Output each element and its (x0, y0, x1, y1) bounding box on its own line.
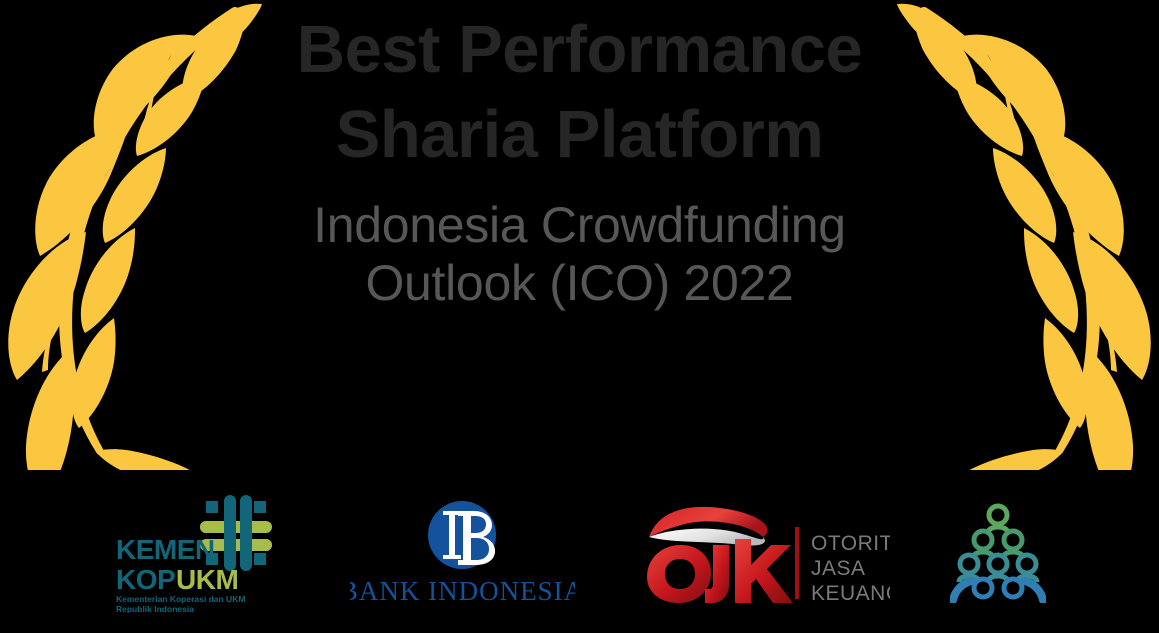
kemenkop-label: Kementerian Koperasi dan UKM (114, 613, 115, 614)
kemenkop-word-ukm: UKM (176, 564, 238, 595)
ojk-text-line-3: KEUANGAN (811, 582, 890, 603)
ojk-letter-k (735, 539, 793, 603)
ojk-letter-o (647, 545, 711, 603)
award-title-line-2: Sharia Platform (0, 99, 1159, 170)
bank-indonesia-wordmark: BANK INDONESIA (350, 576, 575, 606)
partner-logo-strip: KEMEN KOP UKM Kementerian Koperasi dan U… (0, 489, 1159, 617)
logo-kemenkop-ukm: KEMEN KOP UKM Kementerian Koperasi dan U… (114, 493, 290, 613)
ojk-divider (795, 527, 799, 599)
ojk-text-line-1: OTORITAS (811, 532, 890, 555)
ojk-text-line-2: JASA (811, 557, 866, 580)
award-subtitle-line-1: Indonesia Crowdfunding (0, 196, 1159, 254)
kemenkop-word-kemen: KEMEN (116, 534, 215, 565)
association-label: association-pyramid (950, 603, 951, 604)
logo-ojk: OTORITAS JASA KEUANGAN OTORITAS (635, 503, 890, 603)
kemenkop-tagline-2: Republik Indonesia (116, 604, 194, 613)
award-badge: Best Performance Sharia Platform Indones… (0, 0, 1159, 633)
award-title-line-1: Best Performance (0, 14, 1159, 85)
bank-indonesia-label: BANK INDONESIA (350, 607, 351, 608)
logo-bank-indonesia: BANK INDONESIA BANK INDONESIA (350, 499, 575, 607)
kemenkop-tagline-1: Kementerian Koperasi dan UKM (116, 594, 245, 604)
kemenkop-word-kop: KOP (116, 564, 175, 595)
award-text-block: Best Performance Sharia Platform Indones… (0, 14, 1159, 312)
ojk-label: OTORITAS (635, 603, 636, 604)
logo-association-pyramid: association-pyramid (950, 503, 1046, 603)
award-subtitle-line-2: Outlook (ICO) 2022 (0, 254, 1159, 312)
